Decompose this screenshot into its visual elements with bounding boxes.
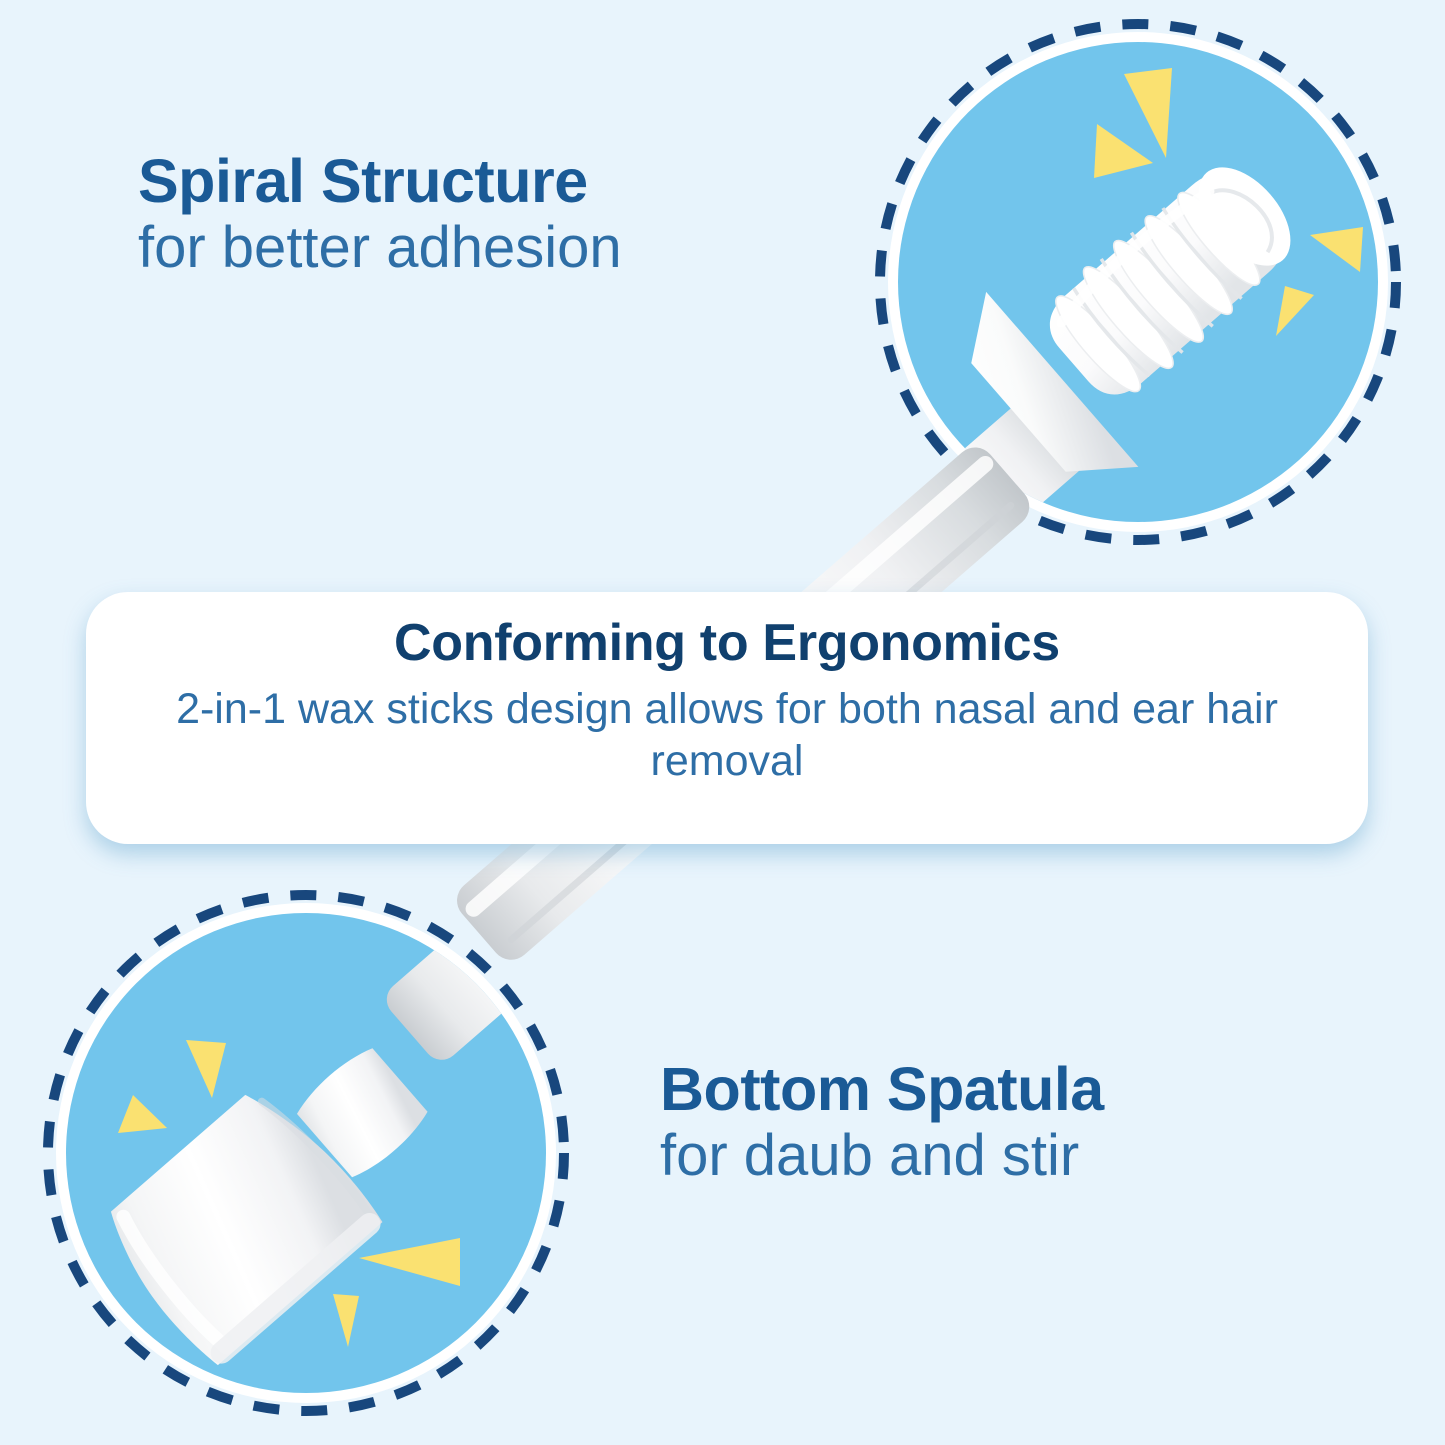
- ergonomics-card-body: 2-in-1 wax sticks design allows for both…: [107, 683, 1347, 788]
- spiral-feature-title: Spiral Structure: [138, 150, 622, 212]
- spiral-feature-subtitle: for better adhesion: [138, 218, 622, 277]
- spatula-feature-heading: Bottom Spatula for daub and stir: [660, 1058, 1104, 1185]
- infographic-canvas: Spiral Structure for better adhesion Con…: [0, 0, 1445, 1445]
- ergonomics-card: Conforming to Ergonomics 2-in-1 wax stic…: [86, 592, 1368, 844]
- ergonomics-card-title: Conforming to Ergonomics: [394, 616, 1060, 671]
- spatula-feature-title: Bottom Spatula: [660, 1058, 1104, 1120]
- spatula-feature-subtitle: for daub and stir: [660, 1126, 1104, 1185]
- spiral-feature-heading: Spiral Structure for better adhesion: [138, 150, 622, 277]
